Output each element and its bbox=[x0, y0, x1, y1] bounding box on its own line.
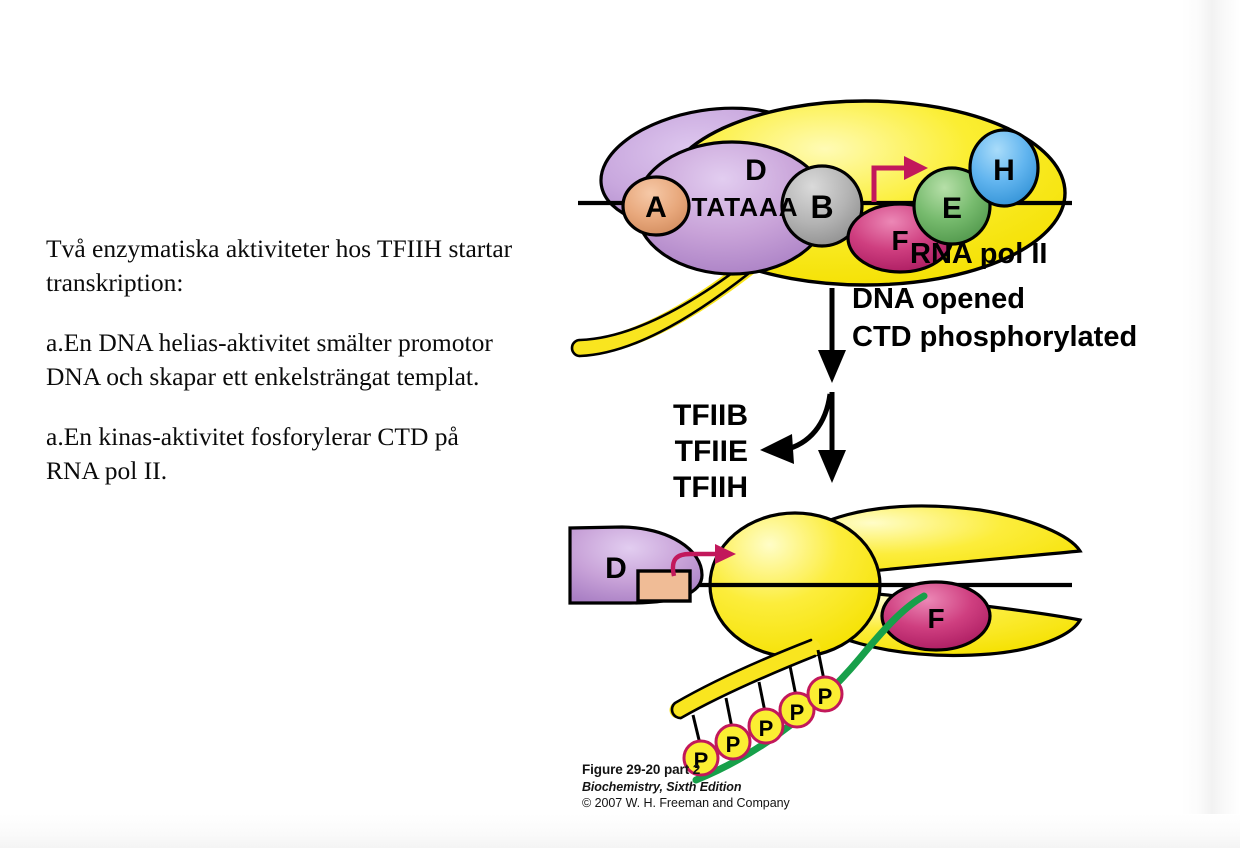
phosphate-label: P bbox=[759, 716, 774, 741]
phosphate-label: P bbox=[818, 684, 833, 709]
transition-group: DNA opened CTD phosphorylated TFIIB TFII… bbox=[673, 283, 1137, 504]
rna-pol-ii-label: RNA pol II bbox=[910, 238, 1047, 270]
phosphate-label: P bbox=[790, 700, 805, 725]
subunit-d-label: D bbox=[745, 154, 767, 187]
promoter-box bbox=[638, 571, 690, 601]
phosphate-label: P bbox=[726, 732, 741, 757]
transition-arrow-1-head bbox=[818, 350, 846, 383]
phosphate-stalk bbox=[790, 666, 796, 696]
text-paragraph-2: a.En DNA helias-aktivitet smälter promot… bbox=[46, 326, 516, 394]
subunit-f-label: F bbox=[891, 225, 908, 256]
figure-caption: Figure 29-20 part 2 Biochemistry, Sixth … bbox=[582, 762, 912, 812]
step-line-1: DNA opened bbox=[852, 283, 1025, 315]
transcription-initiation-figure: A D TATAAA B F E H RNA pol II DNA opened… bbox=[560, 58, 1200, 828]
caption-book-title: Biochemistry, Sixth Edition bbox=[582, 779, 912, 795]
released-factor-2: TFIIE bbox=[675, 435, 748, 468]
lecture-text-panel: Två enzymatiska aktiviteter hos TFIIH st… bbox=[46, 232, 516, 487]
subunit-d-label-bottom: D bbox=[605, 552, 627, 585]
subunit-b-label: B bbox=[810, 189, 833, 225]
released-factor-3: TFIIH bbox=[673, 471, 748, 504]
subunit-f-label-bottom: F bbox=[927, 603, 944, 634]
released-factor-1: TFIIB bbox=[673, 399, 748, 432]
caption-figure-number: Figure 29-20 part 2 bbox=[582, 762, 912, 779]
phosphate-stalk bbox=[726, 698, 732, 728]
text-paragraph-3: a.En kinas-aktivitet fosforylerar CTD på… bbox=[46, 420, 516, 488]
subunit-a-label: A bbox=[645, 191, 667, 224]
subunit-e-label: E bbox=[942, 192, 962, 225]
caption-copyright: © 2007 W. H. Freeman and Company bbox=[582, 795, 912, 812]
step-line-2: CTD phosphorylated bbox=[852, 321, 1137, 353]
release-curve-arrowhead bbox=[760, 434, 794, 464]
subunit-h-label: H bbox=[993, 154, 1015, 187]
promoter-sequence-label: TATAAA bbox=[691, 192, 798, 222]
top-panel-group: A D TATAAA B F E H RNA pol II bbox=[572, 94, 1072, 356]
phosphate-stalk bbox=[759, 682, 765, 712]
transition-arrow-2-head bbox=[818, 450, 846, 483]
bottom-panel-group: P P P P P D F bbox=[570, 506, 1080, 780]
text-paragraph-1: Två enzymatiska aktiviteter hos TFIIH st… bbox=[46, 232, 516, 300]
slide-canvas: Två enzymatiska aktiviteter hos TFIIH st… bbox=[0, 0, 1240, 848]
